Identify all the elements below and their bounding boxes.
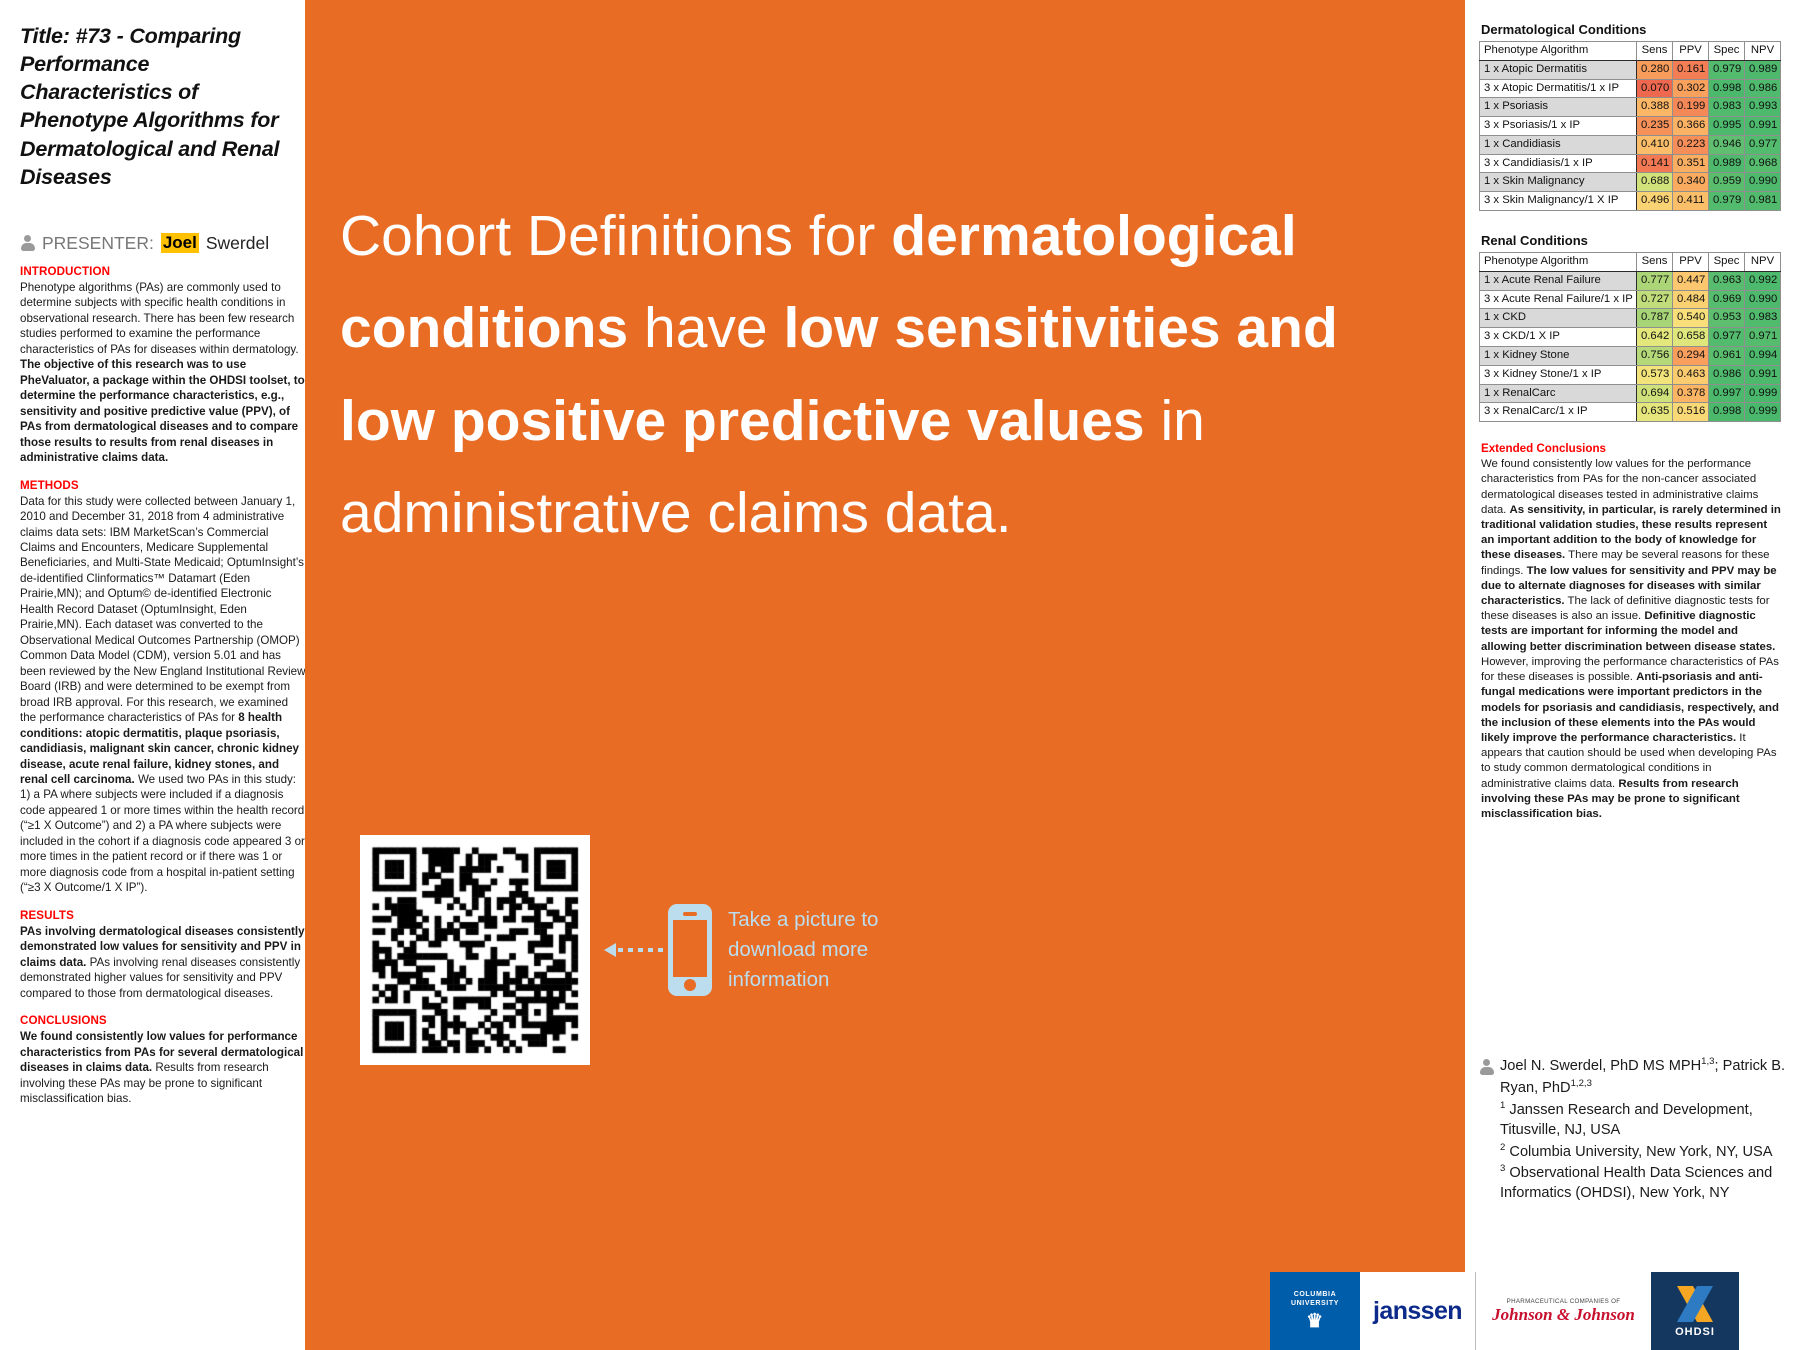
results-heading: RESULTS (20, 909, 306, 922)
phenotype-algorithm-cell: 3 x Kidney Stone/1 x IP (1480, 365, 1637, 384)
author-sup-1: 1,3 (1701, 1056, 1714, 1067)
ppv-value-cell: 0.366 (1673, 117, 1709, 136)
author-sup-2: 1,2,3 (1571, 1078, 1592, 1089)
qr-code[interactable] (360, 835, 590, 1065)
person-icon (20, 235, 35, 251)
table-row: 3 x RenalCarc/1 x IP0.6350.5160.9980.999 (1480, 403, 1781, 422)
npv-value-cell: 0.981 (1745, 192, 1781, 211)
phenotype-algorithm-cell: 3 x Atopic Dermatitis/1 x IP (1480, 79, 1637, 98)
npv-value-cell: 0.990 (1745, 173, 1781, 192)
table-row: 3 x Atopic Dermatitis/1 x IP0.0700.3020.… (1480, 79, 1781, 98)
table-row: 3 x Acute Renal Failure/1 x IP0.7270.484… (1480, 290, 1781, 309)
methods-heading: METHODS (20, 479, 306, 492)
column-header-sens: Sens (1637, 253, 1673, 272)
introduction-heading: INTRODUCTION (20, 265, 306, 278)
spec-value-cell: 0.998 (1709, 403, 1745, 422)
column-header-phenotype-algorithm: Phenotype Algorithm (1480, 42, 1637, 61)
phenotype-algorithm-cell: 3 x Candidiasis/1 x IP (1480, 154, 1637, 173)
left-column: Title: #73 - Comparing Performance Chara… (0, 0, 322, 1350)
npv-value-cell: 0.991 (1745, 117, 1781, 136)
spec-value-cell: 0.946 (1709, 135, 1745, 154)
phenotype-algorithm-cell: 3 x Psoriasis/1 x IP (1480, 117, 1637, 136)
introduction-body: Phenotype algorithms (PAs) are commonly … (20, 280, 306, 466)
renal-table-head: Phenotype AlgorithmSensPPVSpecNPV (1480, 253, 1781, 272)
table-row: 3 x CKD/1 X IP0.6420.6580.9770.971 (1480, 328, 1781, 347)
janssen-logo: janssen (1360, 1272, 1475, 1350)
npv-value-cell: 0.991 (1745, 365, 1781, 384)
table-row: 3 x Psoriasis/1 x IP0.2350.3660.9950.991 (1480, 117, 1781, 136)
spec-value-cell: 0.995 (1709, 117, 1745, 136)
phenotype-algorithm-cell: 1 x Candidiasis (1480, 135, 1637, 154)
affiliation-1: Janssen Research and Development, Titusv… (1500, 1102, 1753, 1138)
ppv-value-cell: 0.223 (1673, 135, 1709, 154)
npv-value-cell: 0.999 (1745, 403, 1781, 422)
columbia-university-logo: COLUMBIA UNIVERSITY ♛ (1270, 1272, 1360, 1350)
sens-value-cell: 0.777 (1637, 271, 1673, 290)
qr-caption: Take a picture to download more informat… (728, 905, 928, 994)
spec-value-cell: 0.997 (1709, 384, 1745, 403)
logo-bar: COLUMBIA UNIVERSITY ♛ janssen PHARMACEUT… (1270, 1272, 1790, 1350)
poster-root: Title: #73 - Comparing Performance Chara… (0, 0, 1800, 1350)
affiliation-2: Columbia University, New York, NY, USA (1505, 1143, 1772, 1159)
ppv-value-cell: 0.340 (1673, 173, 1709, 192)
phenotype-algorithm-cell: 3 x Acute Renal Failure/1 x IP (1480, 290, 1637, 309)
methods-text-plain-1: Data for this study were collected betwe… (20, 495, 306, 725)
spec-value-cell: 0.953 (1709, 309, 1745, 328)
ppv-value-cell: 0.302 (1673, 79, 1709, 98)
phenotype-algorithm-cell: 1 x Acute Renal Failure (1480, 271, 1637, 290)
table-row: 3 x Candidiasis/1 x IP0.1410.3510.9890.9… (1480, 154, 1781, 173)
center-orange-panel: Cohort Definitions for dermatological co… (305, 0, 1465, 1350)
affiliation-3: Observational Health Data Sciences and I… (1500, 1165, 1772, 1201)
spec-value-cell: 0.963 (1709, 271, 1745, 290)
spec-value-cell: 0.977 (1709, 328, 1745, 347)
headline-part-1: Cohort Definitions for (340, 204, 891, 268)
columbia-name-line1: COLUMBIA (1294, 1291, 1337, 1300)
ppv-value-cell: 0.351 (1673, 154, 1709, 173)
sens-value-cell: 0.280 (1637, 60, 1673, 79)
sens-value-cell: 0.388 (1637, 98, 1673, 117)
spec-value-cell: 0.986 (1709, 365, 1745, 384)
spec-value-cell: 0.979 (1709, 60, 1745, 79)
phenotype-algorithm-cell: 1 x CKD (1480, 309, 1637, 328)
qr-block: Take a picture to download more informat… (360, 835, 928, 1065)
presenter-last-name: Swerdel (206, 233, 269, 254)
phenotype-algorithm-cell: 3 x Skin Malignancy/1 X IP (1480, 192, 1637, 211)
spec-value-cell: 0.979 (1709, 192, 1745, 211)
phenotype-algorithm-cell: 1 x RenalCarc (1480, 384, 1637, 403)
dermatological-table-title: Dermatological Conditions (1481, 22, 1784, 37)
sens-value-cell: 0.642 (1637, 328, 1673, 347)
presenter-row: PRESENTER: Joel Swerdel (20, 233, 306, 254)
ppv-value-cell: 0.199 (1673, 98, 1709, 117)
table-row: 1 x RenalCarc0.6940.3780.9970.999 (1480, 384, 1781, 403)
sens-value-cell: 0.410 (1637, 135, 1673, 154)
phenotype-algorithm-cell: 3 x RenalCarc/1 x IP (1480, 403, 1637, 422)
table-row: 1 x Skin Malignancy0.6880.3400.9590.990 (1480, 173, 1781, 192)
phenotype-algorithm-cell: 1 x Atopic Dermatitis (1480, 60, 1637, 79)
npv-value-cell: 0.993 (1745, 98, 1781, 117)
ppv-value-cell: 0.447 (1673, 271, 1709, 290)
results-body: PAs involving dermatological diseases co… (20, 924, 306, 1001)
dashed-arrow-left-icon (604, 935, 666, 965)
npv-value-cell: 0.968 (1745, 154, 1781, 173)
right-column: Dermatological Conditions Phenotype Algo… (1465, 0, 1800, 1350)
presenter-first-name: Joel (161, 233, 199, 253)
column-header-spec: Spec (1709, 42, 1745, 61)
table-row: 3 x Kidney Stone/1 x IP0.5730.4630.9860.… (1480, 365, 1781, 384)
spec-value-cell: 0.969 (1709, 290, 1745, 309)
sens-value-cell: 0.573 (1637, 365, 1673, 384)
npv-value-cell: 0.986 (1745, 79, 1781, 98)
sens-value-cell: 0.694 (1637, 384, 1673, 403)
ppv-value-cell: 0.463 (1673, 365, 1709, 384)
ppv-value-cell: 0.294 (1673, 346, 1709, 365)
ppv-value-cell: 0.161 (1673, 60, 1709, 79)
extended-conclusions-body: We found consistently low values for the… (1481, 457, 1782, 822)
sens-value-cell: 0.727 (1637, 290, 1673, 309)
phenotype-algorithm-cell: 1 x Kidney Stone (1480, 346, 1637, 365)
methods-body: Data for this study were collected betwe… (20, 494, 306, 896)
npv-value-cell: 0.983 (1745, 309, 1781, 328)
renal-table-title: Renal Conditions (1481, 233, 1784, 248)
sens-value-cell: 0.496 (1637, 192, 1673, 211)
ppv-value-cell: 0.658 (1673, 328, 1709, 347)
ppv-value-cell: 0.540 (1673, 309, 1709, 328)
column-header-npv: NPV (1745, 42, 1781, 61)
ohdsi-wordmark: OHDSI (1675, 1326, 1715, 1338)
ohdsi-mark-icon (1675, 1284, 1715, 1324)
introduction-text-bold: The objective of this research was to us… (20, 358, 305, 464)
extended-conclusions-heading: Extended Conclusions (1481, 442, 1784, 455)
derm-table-body: 1 x Atopic Dermatitis0.2800.1610.9790.98… (1480, 60, 1781, 210)
johnson-and-johnson-logo: PHARMACEUTICAL COMPANIES OF Johnson & Jo… (1475, 1272, 1651, 1350)
column-header-sens: Sens (1637, 42, 1673, 61)
column-header-npv: NPV (1745, 253, 1781, 272)
ppv-value-cell: 0.516 (1673, 403, 1709, 422)
introduction-text-plain: Phenotype algorithms (PAs) are commonly … (20, 281, 299, 356)
dermatological-conditions-table: Phenotype AlgorithmSensPPVSpecNPV 1 x At… (1479, 41, 1781, 211)
ppv-value-cell: 0.411 (1673, 192, 1709, 211)
renal-conditions-table: Phenotype AlgorithmSensPPVSpecNPV 1 x Ac… (1479, 252, 1781, 422)
table-row: 1 x CKD0.7870.5400.9530.983 (1480, 309, 1781, 328)
author-line-1: Joel N. Swerdel, PhD MS MPH (1500, 1058, 1701, 1074)
column-header-ppv: PPV (1673, 253, 1709, 272)
npv-value-cell: 0.989 (1745, 60, 1781, 79)
spec-value-cell: 0.959 (1709, 173, 1745, 192)
authors-text: Joel N. Swerdel, PhD MS MPH1,3; Patrick … (1500, 1055, 1789, 1204)
conclusions-body: We found consistently low values for per… (20, 1029, 306, 1106)
table-row: 1 x Atopic Dermatitis0.2800.1610.9790.98… (1480, 60, 1781, 79)
phenotype-algorithm-cell: 1 x Psoriasis (1480, 98, 1637, 117)
renal-header-row: Phenotype AlgorithmSensPPVSpecNPV (1480, 253, 1781, 272)
jnj-wordmark: Johnson & Johnson (1492, 1305, 1635, 1325)
sens-value-cell: 0.756 (1637, 346, 1673, 365)
table-row: 1 x Candidiasis0.4100.2230.9460.977 (1480, 135, 1781, 154)
authors-block: Joel N. Swerdel, PhD MS MPH1,3; Patrick … (1479, 1055, 1789, 1204)
sens-value-cell: 0.787 (1637, 309, 1673, 328)
sens-value-cell: 0.070 (1637, 79, 1673, 98)
methods-text-plain-2: We used two PAs in this study: 1) a PA w… (20, 773, 305, 894)
table-row: 3 x Skin Malignancy/1 X IP0.4960.4110.97… (1480, 192, 1781, 211)
table-row: 1 x Kidney Stone0.7560.2940.9610.994 (1480, 346, 1781, 365)
table-row: 1 x Acute Renal Failure0.7770.4470.9630.… (1480, 271, 1781, 290)
column-header-ppv: PPV (1673, 42, 1709, 61)
presenter-label: PRESENTER: (42, 233, 154, 254)
sens-value-cell: 0.635 (1637, 403, 1673, 422)
phenotype-algorithm-cell: 1 x Skin Malignancy (1480, 173, 1637, 192)
npv-value-cell: 0.994 (1745, 346, 1781, 365)
crown-icon: ♛ (1306, 1312, 1324, 1331)
ohdsi-logo: OHDSI (1651, 1272, 1739, 1350)
person-icon (1479, 1059, 1494, 1075)
npv-value-cell: 0.992 (1745, 271, 1781, 290)
spec-value-cell: 0.998 (1709, 79, 1745, 98)
table-row: 1 x Psoriasis0.3880.1990.9830.993 (1480, 98, 1781, 117)
spec-value-cell: 0.989 (1709, 154, 1745, 173)
column-header-spec: Spec (1709, 253, 1745, 272)
ppv-value-cell: 0.378 (1673, 384, 1709, 403)
headline-part-2: have (628, 296, 783, 360)
jnj-tagline: PHARMACEUTICAL COMPANIES OF (1507, 1298, 1621, 1305)
page-title: Title: #73 - Comparing Performance Chara… (20, 22, 306, 191)
spec-value-cell: 0.983 (1709, 98, 1745, 117)
phenotype-algorithm-cell: 3 x CKD/1 X IP (1480, 328, 1637, 347)
npv-value-cell: 0.971 (1745, 328, 1781, 347)
ppv-value-cell: 0.484 (1673, 290, 1709, 309)
derm-table-head: Phenotype AlgorithmSensPPVSpecNPV (1480, 42, 1781, 61)
sens-value-cell: 0.141 (1637, 154, 1673, 173)
headline: Cohort Definitions for dermatological co… (340, 190, 1350, 559)
sens-value-cell: 0.688 (1637, 173, 1673, 192)
npv-value-cell: 0.990 (1745, 290, 1781, 309)
sens-value-cell: 0.235 (1637, 117, 1673, 136)
spec-value-cell: 0.961 (1709, 346, 1745, 365)
columbia-name-line2: UNIVERSITY (1291, 1300, 1339, 1309)
npv-value-cell: 0.977 (1745, 135, 1781, 154)
smartphone-icon (668, 904, 712, 996)
renal-table-body: 1 x Acute Renal Failure0.7770.4470.9630.… (1480, 271, 1781, 421)
npv-value-cell: 0.999 (1745, 384, 1781, 403)
conclusions-heading: CONCLUSIONS (20, 1014, 306, 1027)
column-header-phenotype-algorithm: Phenotype Algorithm (1480, 253, 1637, 272)
derm-header-row: Phenotype AlgorithmSensPPVSpecNPV (1480, 42, 1781, 61)
